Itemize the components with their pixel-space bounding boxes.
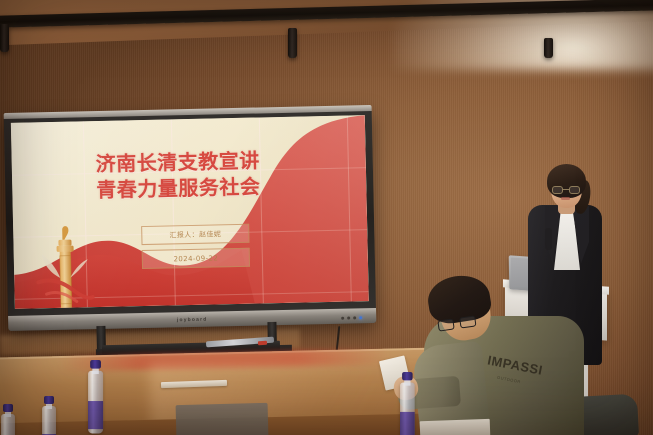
status-led xyxy=(353,316,356,319)
power-led xyxy=(341,317,344,320)
date-label: 2024-09-22 xyxy=(173,254,218,263)
bottle-cap xyxy=(44,396,54,404)
eyeglass-lens-left xyxy=(437,318,454,331)
display-screen[interactable]: 济南长清支教宣讲 青春力量服务社会 汇报人：赵佳妮 2024-09-22 xyxy=(11,115,369,309)
eyeglass-lens-left xyxy=(552,186,563,194)
presentation-slide: 济南长清支教宣讲 青春力量服务社会 汇报人：赵佳妮 2024-09-22 xyxy=(11,115,369,309)
presenter-mouth xyxy=(561,197,570,200)
slide-title-block: 济南长清支教宣讲 青春力量服务社会 xyxy=(95,147,296,204)
ceiling-spotlight xyxy=(288,28,297,58)
presenter-label: 汇报人：赵佳妮 xyxy=(169,229,221,240)
display-bezel: 济南长清支教宣讲 青春力量服务社会 汇报人：赵佳妮 2024-09-22 xyxy=(4,108,377,331)
eyeglass-lens-right xyxy=(569,186,580,194)
bottle-label xyxy=(88,401,103,429)
presenter-eyeglasses xyxy=(552,186,581,194)
status-led xyxy=(347,317,350,320)
microphone[interactable] xyxy=(545,228,552,250)
display-brand-label: joyboard xyxy=(177,316,208,323)
bottle-cap xyxy=(3,404,13,412)
blue-indicator-led xyxy=(359,316,362,319)
ceiling-spotlight xyxy=(0,24,9,52)
bottle-body xyxy=(1,414,15,435)
bottle-cap xyxy=(90,360,101,369)
slide-meta-block: 汇报人：赵佳妮 2024-09-22 xyxy=(141,224,250,274)
date-field: 2024-09-22 xyxy=(142,248,250,269)
bottle-body xyxy=(42,406,56,435)
interactive-display[interactable]: 济南长清支教宣讲 青春力量服务社会 汇报人：赵佳妮 2024-09-22 xyxy=(4,108,377,331)
ceiling-spotlight xyxy=(544,38,553,58)
bottle-cap xyxy=(402,372,413,380)
presenter-field: 汇报人：赵佳妮 xyxy=(141,224,249,245)
display-indicator-group xyxy=(341,316,362,319)
presentation-room-photo: 济南长清支教宣讲 青春力量服务社会 汇报人：赵佳妮 2024-09-22 xyxy=(0,0,653,435)
notepad xyxy=(176,403,269,435)
bottle-label xyxy=(400,412,415,435)
slide-title-line-2: 青春力量服务社会 xyxy=(96,173,297,204)
golden-monument-icon xyxy=(35,219,95,309)
eyeglass-lens-right xyxy=(459,315,476,328)
remote-power-button[interactable] xyxy=(258,341,267,346)
paper-sheet xyxy=(420,419,491,435)
